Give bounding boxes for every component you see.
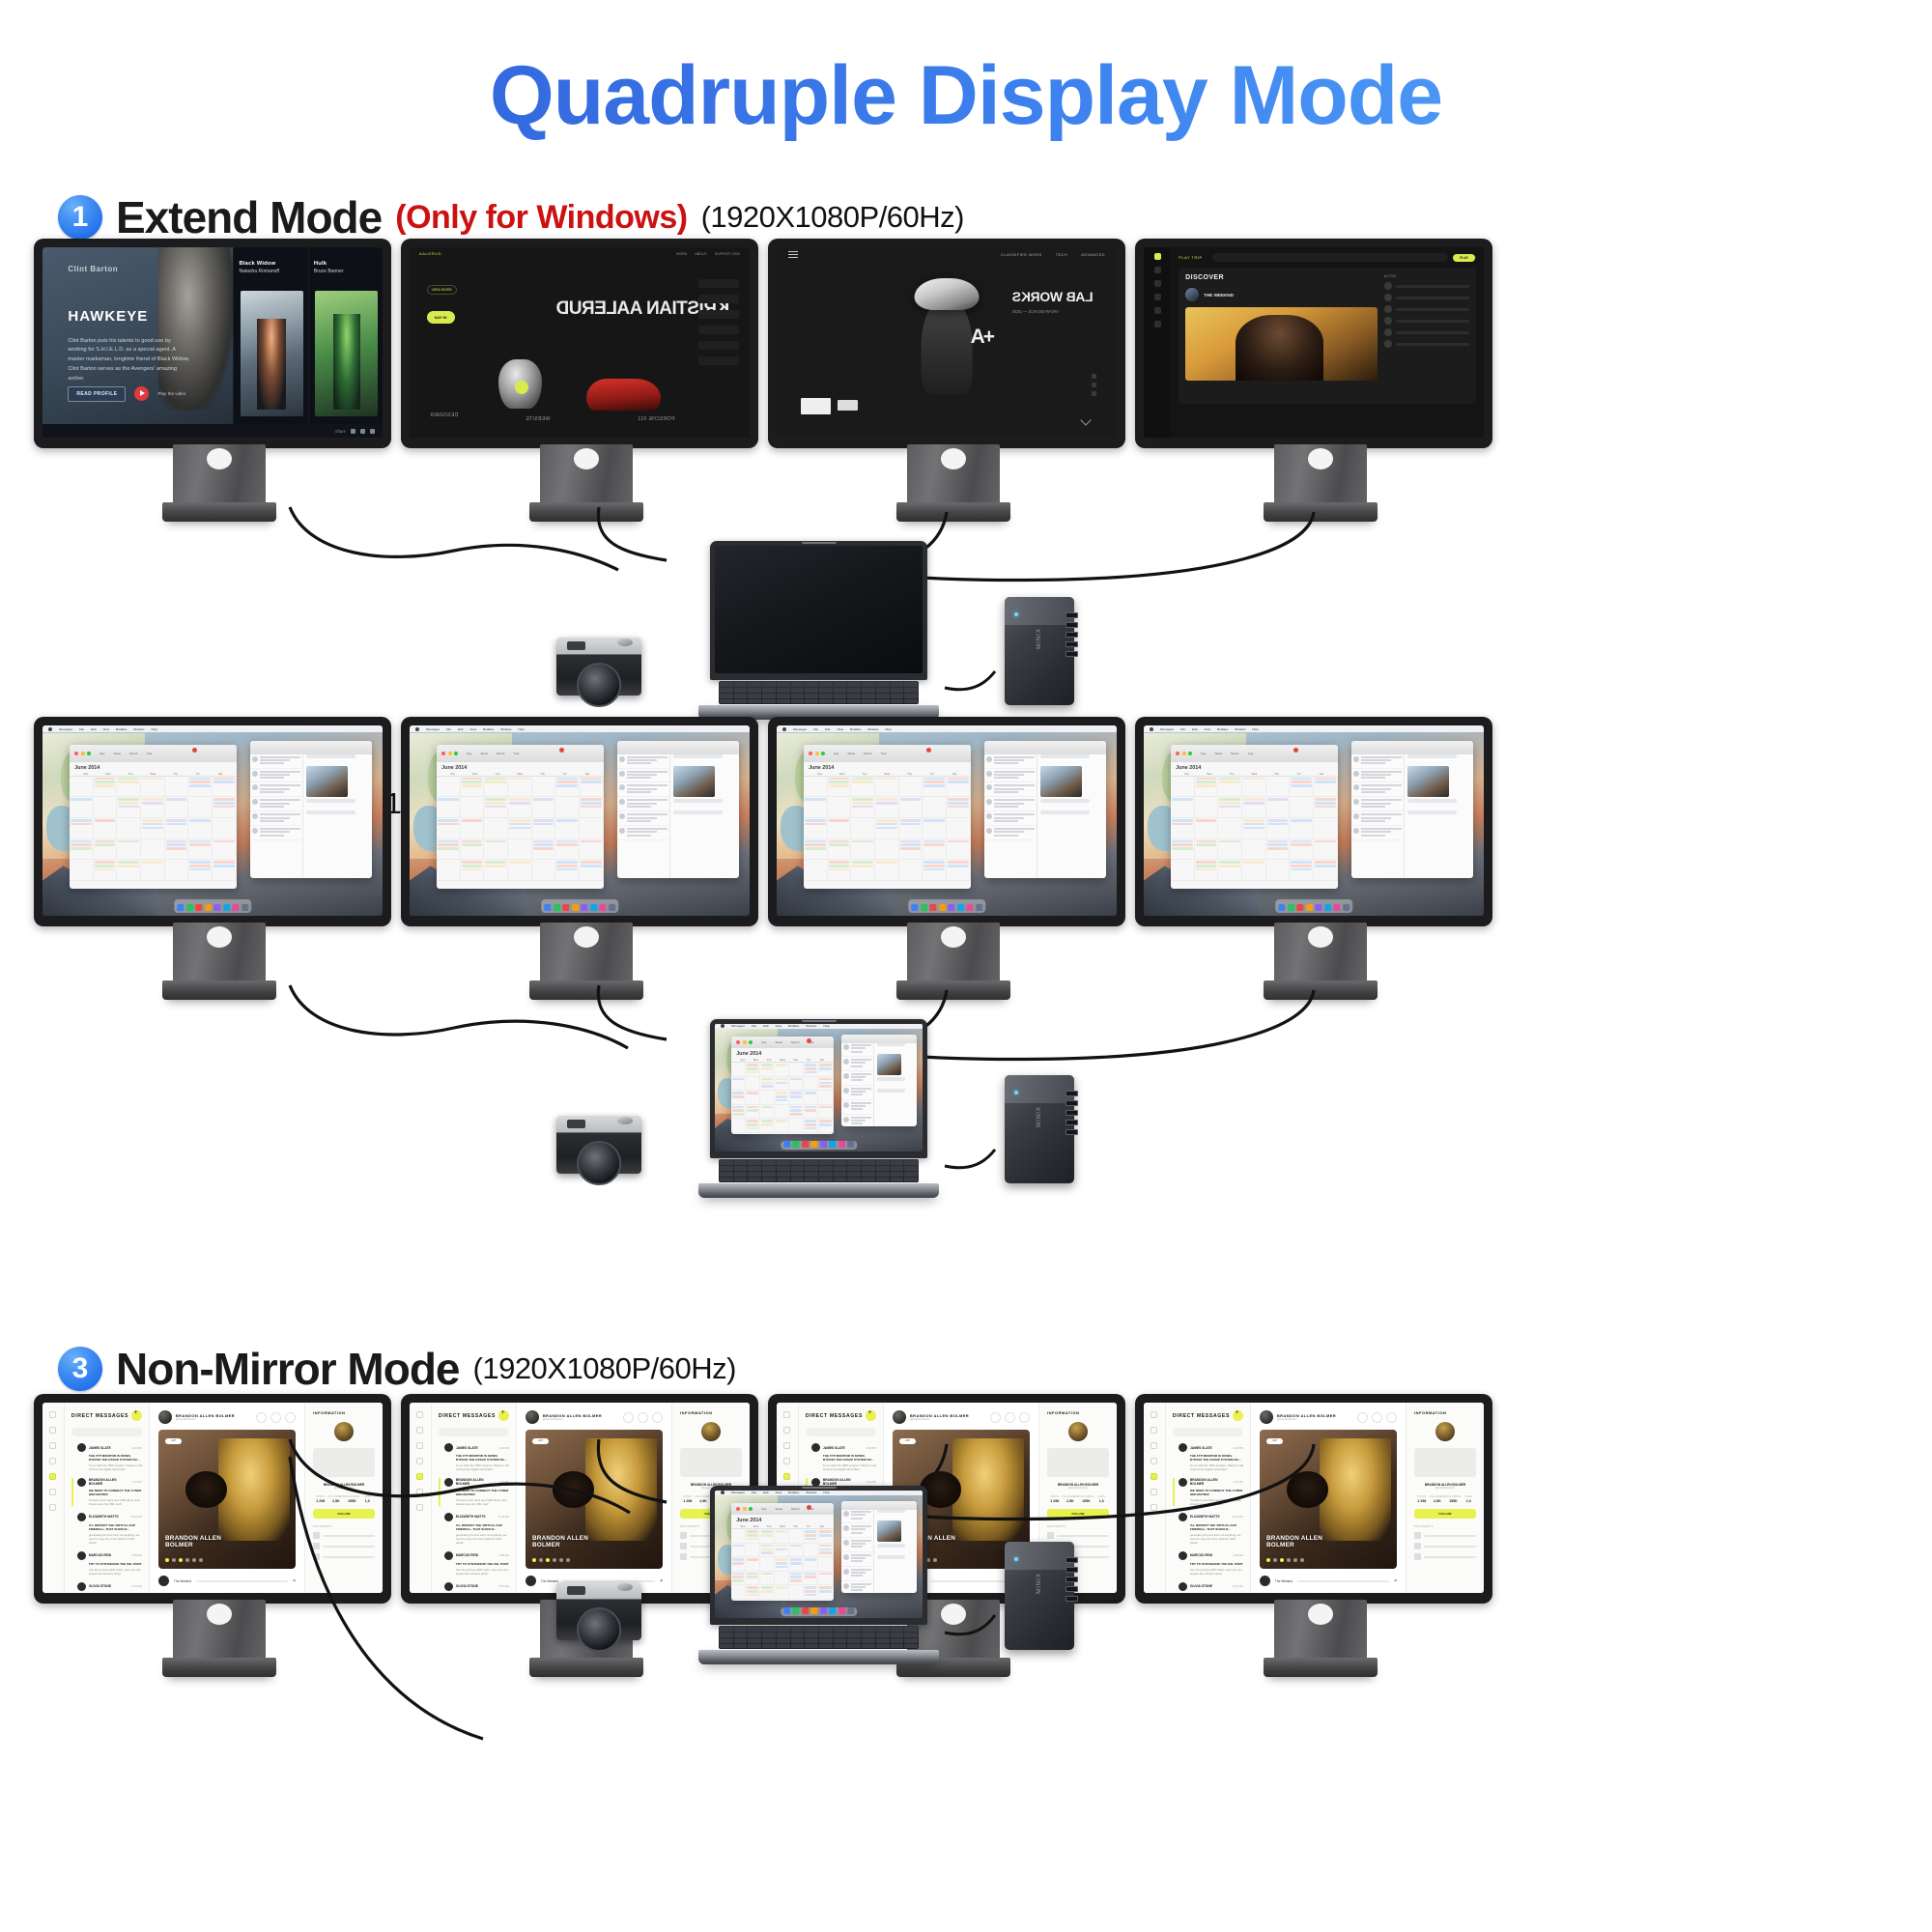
- calendar-event[interactable]: [732, 1078, 744, 1081]
- calendar-event[interactable]: [923, 781, 945, 783]
- calendar-view-tab[interactable]: Year: [880, 752, 886, 755]
- calendar-day-cell[interactable]: [760, 1077, 775, 1091]
- calendar-day-cell[interactable]: [746, 1119, 760, 1132]
- calendar-event[interactable]: [819, 1530, 831, 1533]
- shared-photo[interactable]: [877, 1054, 901, 1075]
- calendar-event[interactable]: [556, 781, 578, 783]
- calendar-event[interactable]: [805, 1530, 816, 1533]
- dock-app-icon[interactable]: [554, 904, 560, 911]
- calendar-day-cell[interactable]: [1171, 797, 1195, 818]
- menu-item[interactable]: File: [813, 727, 818, 731]
- conversation-list-item[interactable]: [984, 754, 1037, 769]
- calendar-day-cell[interactable]: [213, 860, 237, 881]
- dock-app-icon[interactable]: [948, 904, 954, 911]
- calendar-event[interactable]: [1196, 843, 1217, 846]
- calendar-event[interactable]: [876, 802, 897, 805]
- close-icon[interactable]: ×: [660, 1578, 663, 1584]
- conversation-list-item[interactable]: [841, 1523, 873, 1538]
- conversation-list-item[interactable]: [617, 811, 670, 826]
- calendar-event[interactable]: [189, 819, 211, 822]
- artist-row[interactable]: THE WEEKND: [1185, 288, 1378, 301]
- calendar-event[interactable]: [805, 1538, 816, 1541]
- calendar-day-cell[interactable]: [1242, 777, 1266, 798]
- message-list-item[interactable]: JAMES SLATE 2:34 PM THE FTP MONITOR IS D…: [1173, 1443, 1243, 1471]
- calendar-event[interactable]: [1291, 784, 1312, 787]
- calendar-event[interactable]: [923, 861, 945, 864]
- calendar-day-cell[interactable]: [923, 860, 947, 881]
- calendar-day-cell[interactable]: [731, 1119, 746, 1132]
- calendar-event[interactable]: [1291, 861, 1312, 864]
- read-profile-button[interactable]: READ PROFILE: [68, 386, 126, 402]
- calendar-event[interactable]: [819, 1064, 831, 1066]
- menu-item[interactable]: Edit: [763, 1491, 768, 1494]
- calendar-event[interactable]: [189, 784, 211, 787]
- calendar-day-cell[interactable]: [580, 860, 604, 881]
- calendar-event[interactable]: [509, 827, 530, 830]
- dock-app-icon[interactable]: [1324, 904, 1331, 911]
- calendar-event[interactable]: [761, 1530, 773, 1533]
- calendar-event[interactable]: [1315, 778, 1336, 781]
- calendar-event[interactable]: [71, 847, 92, 850]
- calendar-day-cell[interactable]: [760, 1529, 775, 1543]
- calendar-event[interactable]: [805, 1106, 816, 1109]
- grid-icon[interactable]: [416, 1427, 423, 1434]
- view-work-chip[interactable]: VIEW WORK: [427, 285, 457, 295]
- messages-window[interactable]: [617, 741, 740, 878]
- calendar-event[interactable]: [1243, 778, 1264, 781]
- calendar-event[interactable]: [732, 1576, 744, 1578]
- calendar-event[interactable]: [761, 1085, 773, 1088]
- calendar-event[interactable]: [829, 784, 850, 787]
- heart-icon[interactable]: [49, 1504, 56, 1511]
- dock-app-icon[interactable]: [186, 904, 193, 911]
- menu-item[interactable]: File: [79, 727, 84, 731]
- conversation-list-item[interactable]: [1351, 826, 1405, 840]
- calendar-day-cell[interactable]: [141, 839, 165, 861]
- calendar-day-cell[interactable]: [775, 1529, 789, 1543]
- calendar-event[interactable]: [581, 798, 602, 801]
- calendar-day-cell[interactable]: [94, 818, 118, 839]
- calendar-view-tab[interactable]: Year: [146, 752, 152, 755]
- calendar-day-cell[interactable]: [746, 1091, 760, 1104]
- calendar-day-cell[interactable]: [851, 777, 875, 798]
- shared-photo[interactable]: [1040, 766, 1082, 797]
- calendar-event[interactable]: [166, 847, 187, 850]
- calendar-event[interactable]: [142, 823, 163, 826]
- calendar-event[interactable]: [805, 1109, 816, 1112]
- calendar-event[interactable]: [485, 865, 506, 867]
- calendar-event[interactable]: [509, 798, 530, 801]
- calendar-day-cell[interactable]: [188, 818, 213, 839]
- window-controls[interactable]: [1176, 752, 1192, 755]
- calendar-event[interactable]: [581, 806, 602, 809]
- message-list-item[interactable]: ELIZABETH WATTS 11:04 AM I'LL REBOOT THE…: [1173, 1513, 1243, 1545]
- calendar-event[interactable]: [761, 1586, 773, 1589]
- settings-icon[interactable]: [1154, 321, 1161, 327]
- calendar-day-cell[interactable]: [141, 860, 165, 881]
- calendar-day-cell[interactable]: [746, 1105, 760, 1119]
- menu-item[interactable]: View: [469, 727, 476, 731]
- calendar-day-cell[interactable]: [818, 1585, 833, 1599]
- calendar-event[interactable]: [776, 1120, 787, 1122]
- nav-item[interactable]: ADVANCED: [1081, 253, 1105, 257]
- dock-app-icon[interactable]: [1343, 904, 1350, 911]
- calendar-window[interactable]: DayWeekMonthYear June 2014 SunMonTueWedT…: [437, 745, 603, 890]
- calendar-day-cell[interactable]: [461, 777, 485, 798]
- calendar-day-cell[interactable]: [923, 777, 947, 798]
- calendar-event[interactable]: [118, 798, 139, 801]
- calendar-day-cell[interactable]: [1171, 860, 1195, 881]
- calendar-day-cell[interactable]: [947, 797, 971, 818]
- calendar-day-cell[interactable]: [899, 777, 923, 798]
- conversation-list-item[interactable]: [841, 1552, 873, 1567]
- calendar-event[interactable]: [923, 784, 945, 787]
- calendar-event[interactable]: [1291, 819, 1312, 822]
- calendar-day-cell[interactable]: [775, 1091, 789, 1104]
- calendar-event[interactable]: [1172, 798, 1193, 801]
- menu-item[interactable]: Messages: [59, 727, 72, 731]
- calendar-event[interactable]: [1291, 781, 1312, 783]
- phone-icon[interactable]: [1019, 1412, 1030, 1423]
- browse-icon[interactable]: [1154, 267, 1161, 273]
- dock-app-icon[interactable]: [966, 904, 973, 911]
- calendar-event[interactable]: [819, 1082, 831, 1085]
- calendar-day-cell[interactable]: [165, 777, 189, 798]
- calendar-event[interactable]: [1219, 798, 1240, 801]
- site-logo[interactable]: AALERUD: [419, 251, 441, 256]
- calendar-event[interactable]: [1267, 798, 1289, 801]
- dock-app-icon[interactable]: [581, 904, 587, 911]
- calendar-view-tab[interactable]: Week: [776, 1040, 783, 1044]
- calendar-day-cell[interactable]: [1314, 818, 1338, 839]
- dock-app-icon[interactable]: [1288, 904, 1294, 911]
- calendar-event[interactable]: [213, 861, 235, 864]
- calendar-day-cell[interactable]: [828, 839, 852, 861]
- message-list-item[interactable]: BRANDON ALLEN BOLMER 1:12 PM WE NEED TO …: [1173, 1478, 1243, 1506]
- calendar-event[interactable]: [142, 778, 163, 781]
- calendar-day-cell[interactable]: [188, 777, 213, 798]
- calendar-day-cell[interactable]: [1314, 860, 1338, 881]
- calendar-event[interactable]: [805, 1586, 816, 1589]
- calendar-event[interactable]: [166, 798, 187, 801]
- calendar-event[interactable]: [509, 819, 530, 822]
- conversation-list-item[interactable]: [984, 797, 1037, 811]
- calendar-day-cell[interactable]: [746, 1585, 760, 1599]
- calendar-event[interactable]: [581, 802, 602, 805]
- calendar-day-cell[interactable]: [1290, 797, 1314, 818]
- home-icon[interactable]: [1154, 253, 1161, 260]
- calendar-event[interactable]: [776, 1545, 787, 1548]
- menu-item[interactable]: File: [446, 727, 451, 731]
- calendar-day-cell[interactable]: [746, 1544, 760, 1557]
- dock-app-icon[interactable]: [911, 904, 918, 911]
- calendar-day-cell[interactable]: [923, 839, 947, 861]
- calendar-event[interactable]: [805, 843, 826, 846]
- port-group[interactable]: [1065, 612, 1078, 657]
- calendar-day-cell[interactable]: [875, 797, 899, 818]
- calendar-event[interactable]: [533, 819, 554, 822]
- calendar-day-cell[interactable]: [1290, 860, 1314, 881]
- apple-icon[interactable]: [415, 727, 419, 731]
- calendar-day-cell[interactable]: [789, 1091, 804, 1104]
- calendar-event[interactable]: [819, 1548, 831, 1551]
- calendar-event[interactable]: [805, 1064, 816, 1066]
- dock-app-icon[interactable]: [1278, 904, 1285, 911]
- message-list-item[interactable]: JAMES SLATE 2:34 PM THE FTP MONITOR IS D…: [806, 1443, 876, 1471]
- calendar-event[interactable]: [1196, 784, 1217, 787]
- calendar-day-cell[interactable]: [1242, 797, 1266, 818]
- menu-item[interactable]: Window: [1235, 727, 1245, 731]
- calendar-event[interactable]: [462, 843, 483, 846]
- calendar-day-cell[interactable]: [731, 1572, 746, 1585]
- calendar-event[interactable]: [852, 781, 873, 783]
- calendar-event[interactable]: [747, 1538, 758, 1541]
- calendar-event[interactable]: [142, 798, 163, 801]
- calendar-event[interactable]: [776, 1078, 787, 1081]
- calendar-event[interactable]: [776, 1530, 787, 1533]
- calendar-event[interactable]: [509, 823, 530, 826]
- calendar-event[interactable]: [118, 861, 139, 864]
- queue-item[interactable]: [1384, 340, 1469, 348]
- calendar-event[interactable]: [556, 865, 578, 867]
- calendar-day-cell[interactable]: [117, 818, 141, 839]
- calendar-event[interactable]: [923, 819, 945, 822]
- conversation-list-item[interactable]: [841, 1071, 873, 1086]
- calendar-event[interactable]: [876, 798, 897, 801]
- calendar-event[interactable]: [761, 1078, 773, 1081]
- calendar-event[interactable]: [790, 1579, 802, 1582]
- calendar-day-cell[interactable]: [1195, 777, 1219, 798]
- calendar-day-cell[interactable]: [760, 1585, 775, 1599]
- calendar-event[interactable]: [71, 798, 92, 801]
- calendar-event[interactable]: [805, 1594, 816, 1597]
- phone-icon[interactable]: [1386, 1412, 1397, 1423]
- messages-icon[interactable]: [416, 1473, 423, 1480]
- calendar-day-cell[interactable]: [746, 1572, 760, 1585]
- calendar-event[interactable]: [747, 1586, 758, 1589]
- conversation-list-item[interactable]: [841, 1509, 873, 1523]
- calendar-event[interactable]: [761, 1082, 773, 1085]
- calendar-event[interactable]: [462, 781, 483, 783]
- calendar-event[interactable]: [829, 865, 850, 867]
- calendar-day-cell[interactable]: [804, 1572, 818, 1585]
- follow-button[interactable]: FOLLOW: [313, 1509, 375, 1519]
- menu-icon[interactable]: [788, 251, 798, 258]
- calendar-day-cell[interactable]: [731, 1063, 746, 1076]
- menu-item[interactable]: File: [1180, 727, 1185, 731]
- window-controls[interactable]: [809, 752, 825, 755]
- calendar-event[interactable]: [747, 1576, 758, 1578]
- calendar-day-cell[interactable]: [818, 1119, 833, 1132]
- hero-media[interactable]: ART BRANDON ALLENBOLMER: [526, 1430, 663, 1569]
- calendar-event[interactable]: [1243, 827, 1264, 830]
- calendar-event[interactable]: [805, 840, 826, 843]
- dock-app-icon[interactable]: [810, 1607, 817, 1614]
- calendar-event[interactable]: [1315, 802, 1336, 805]
- calendar-day-cell[interactable]: [188, 860, 213, 881]
- calendar-event[interactable]: [1291, 778, 1312, 781]
- conversation-list-item[interactable]: [841, 1057, 873, 1071]
- dock-app-icon[interactable]: [195, 904, 202, 911]
- folder-icon[interactable]: [783, 1458, 790, 1464]
- conversation-actions[interactable]: [990, 1412, 1030, 1423]
- calendar-day-cell[interactable]: [851, 797, 875, 818]
- calendar-event[interactable]: [213, 781, 235, 783]
- calendar-day-cell[interactable]: [775, 1063, 789, 1076]
- home-icon[interactable]: [49, 1411, 56, 1418]
- calendar-event[interactable]: [747, 1534, 758, 1537]
- calendar-event[interactable]: [761, 1548, 773, 1551]
- menu-item[interactable]: Edit: [1192, 727, 1197, 731]
- calendar-event[interactable]: [790, 1095, 802, 1098]
- calendar-event[interactable]: [819, 1590, 831, 1593]
- nav-item[interactable]: CLASSIFIED WORK: [1001, 253, 1042, 257]
- calendar-event[interactable]: [761, 1573, 773, 1576]
- calendar-event[interactable]: [581, 781, 602, 783]
- calendar-event[interactable]: [509, 802, 530, 805]
- calendar-event[interactable]: [438, 819, 459, 822]
- conversation-actions[interactable]: [623, 1412, 663, 1423]
- calendar-day-cell[interactable]: [508, 777, 532, 798]
- calendar-event[interactable]: [485, 781, 506, 783]
- calendar-event[interactable]: [790, 1106, 802, 1109]
- queue-item[interactable]: [1384, 317, 1469, 325]
- calendar-day-cell[interactable]: [1218, 818, 1242, 839]
- calendar-event[interactable]: [805, 1590, 816, 1593]
- calendar-event[interactable]: [747, 1127, 758, 1130]
- conversation-list-item[interactable]: [984, 826, 1037, 840]
- message-list-item[interactable]: JAMES SLATE 2:34 PM THE FTP MONITOR IS D…: [439, 1443, 509, 1471]
- calendar-event[interactable]: [118, 840, 139, 843]
- calendar-event[interactable]: [829, 778, 850, 781]
- calendar-event[interactable]: [948, 861, 969, 864]
- calendar-event[interactable]: [438, 823, 459, 826]
- calendar-day-cell[interactable]: [828, 777, 852, 798]
- calendar-event[interactable]: [462, 840, 483, 843]
- queue-item[interactable]: [1384, 282, 1469, 290]
- calendar-event[interactable]: [732, 1095, 744, 1098]
- calendar-event[interactable]: [1219, 781, 1240, 783]
- calendar-event[interactable]: [732, 1109, 744, 1112]
- calendar-event[interactable]: [805, 1127, 816, 1130]
- play-button[interactable]: PLAY: [1453, 254, 1475, 262]
- dock-app-icon[interactable]: [838, 1141, 845, 1148]
- heart-icon[interactable]: [1151, 1504, 1157, 1511]
- calendar-day-cell[interactable]: [1218, 777, 1242, 798]
- calendar-event[interactable]: [462, 865, 483, 867]
- conversation-list-item[interactable]: [841, 1100, 873, 1115]
- calendar-day-cell[interactable]: [508, 818, 532, 839]
- dock-app-icon[interactable]: [223, 904, 230, 911]
- calendar-event[interactable]: [1315, 865, 1336, 867]
- conversation-list-item[interactable]: [841, 1581, 873, 1593]
- calendar-event[interactable]: [71, 823, 92, 826]
- conversation-list-item[interactable]: [617, 782, 670, 797]
- calendar-day-cell[interactable]: [94, 860, 118, 881]
- calendar-event[interactable]: [761, 1545, 773, 1548]
- calendar-day-cell[interactable]: [923, 797, 947, 818]
- calendar-day-cell[interactable]: [1171, 839, 1195, 861]
- apple-icon[interactable]: [782, 727, 786, 731]
- search-icon[interactable]: [1357, 1412, 1368, 1423]
- folder-icon[interactable]: [416, 1458, 423, 1464]
- calendar-icon[interactable]: [416, 1489, 423, 1495]
- calendar-event[interactable]: [166, 843, 187, 846]
- folder-icon[interactable]: [49, 1458, 56, 1464]
- messages-window[interactable]: [841, 1501, 916, 1593]
- nav-item[interactable]: SUPPORT 2020: [715, 252, 740, 256]
- calendar-event[interactable]: [900, 798, 922, 801]
- calendar-day-cell[interactable]: [1290, 777, 1314, 798]
- calendar-icon[interactable]: [49, 1489, 56, 1495]
- calendar-day-cell[interactable]: [828, 818, 852, 839]
- document-row[interactable]: [1414, 1543, 1476, 1549]
- calendar-event[interactable]: [776, 1548, 787, 1551]
- calendar-event[interactable]: [95, 865, 116, 867]
- calendar-day-cell[interactable]: [828, 797, 852, 818]
- calendar-day-cell[interactable]: [555, 818, 580, 839]
- calendar-view-tab[interactable]: Day: [1201, 752, 1206, 755]
- calendar-day-cell[interactable]: [804, 1091, 818, 1104]
- calendar-day-cell[interactable]: [746, 1529, 760, 1543]
- calendar-view-tab[interactable]: Year: [513, 752, 519, 755]
- info-icon[interactable]: [1372, 1412, 1382, 1423]
- calendar-event[interactable]: [189, 843, 211, 846]
- conversation-list-item[interactable]: [1351, 769, 1405, 783]
- calendar-event[interactable]: [732, 1579, 744, 1582]
- document-row[interactable]: [313, 1553, 375, 1560]
- calendar-event[interactable]: [1243, 861, 1264, 864]
- calendar-day-cell[interactable]: [555, 777, 580, 798]
- calendar-event[interactable]: [1196, 865, 1217, 867]
- apple-icon[interactable]: [721, 1491, 724, 1494]
- calendar-event[interactable]: [485, 802, 506, 805]
- calendar-event[interactable]: [189, 840, 211, 843]
- calendar-day-cell[interactable]: [580, 777, 604, 798]
- calendar-day-cell[interactable]: [461, 839, 485, 861]
- macos-dock[interactable]: [781, 1607, 858, 1616]
- info-icon[interactable]: [1005, 1412, 1015, 1423]
- calendar-day-cell[interactable]: [804, 1077, 818, 1091]
- menu-item[interactable]: Window: [806, 1491, 816, 1494]
- calendar-day-cell[interactable]: [165, 860, 189, 881]
- calendar-event[interactable]: [1291, 865, 1312, 867]
- dock-app-icon[interactable]: [177, 904, 184, 911]
- conversation-list-item[interactable]: [617, 769, 670, 783]
- calendar-event[interactable]: [923, 778, 945, 781]
- calendar-day-cell[interactable]: [875, 777, 899, 798]
- dock-app-icon[interactable]: [599, 904, 606, 911]
- carousel-dots[interactable]: [165, 1558, 203, 1562]
- dock-app-icon[interactable]: [829, 1141, 836, 1148]
- calendar-event[interactable]: [776, 1566, 787, 1569]
- new-message-button[interactable]: [1233, 1410, 1243, 1421]
- search-input[interactable]: [71, 1428, 142, 1436]
- calendar-event[interactable]: [1172, 840, 1193, 843]
- conversation-actions[interactable]: [1357, 1412, 1397, 1423]
- shared-photo[interactable]: [1407, 766, 1449, 797]
- twitter-icon[interactable]: [351, 429, 355, 434]
- menu-item[interactable]: Buddies: [788, 1491, 799, 1494]
- calendar-day-cell[interactable]: [731, 1557, 746, 1571]
- calendar-day-cell[interactable]: [731, 1091, 746, 1104]
- calendar-event[interactable]: [747, 1071, 758, 1074]
- calendar-view-tab[interactable]: Day: [761, 1040, 766, 1044]
- calendar-event[interactable]: [1315, 861, 1336, 864]
- calendar-day-cell[interactable]: [731, 1544, 746, 1557]
- calendar-view-tab[interactable]: Month: [1231, 752, 1238, 755]
- message-list-item[interactable]: OLIVIA STONE 8:21 AM THE BANDWIDTH IS OV…: [1173, 1582, 1243, 1593]
